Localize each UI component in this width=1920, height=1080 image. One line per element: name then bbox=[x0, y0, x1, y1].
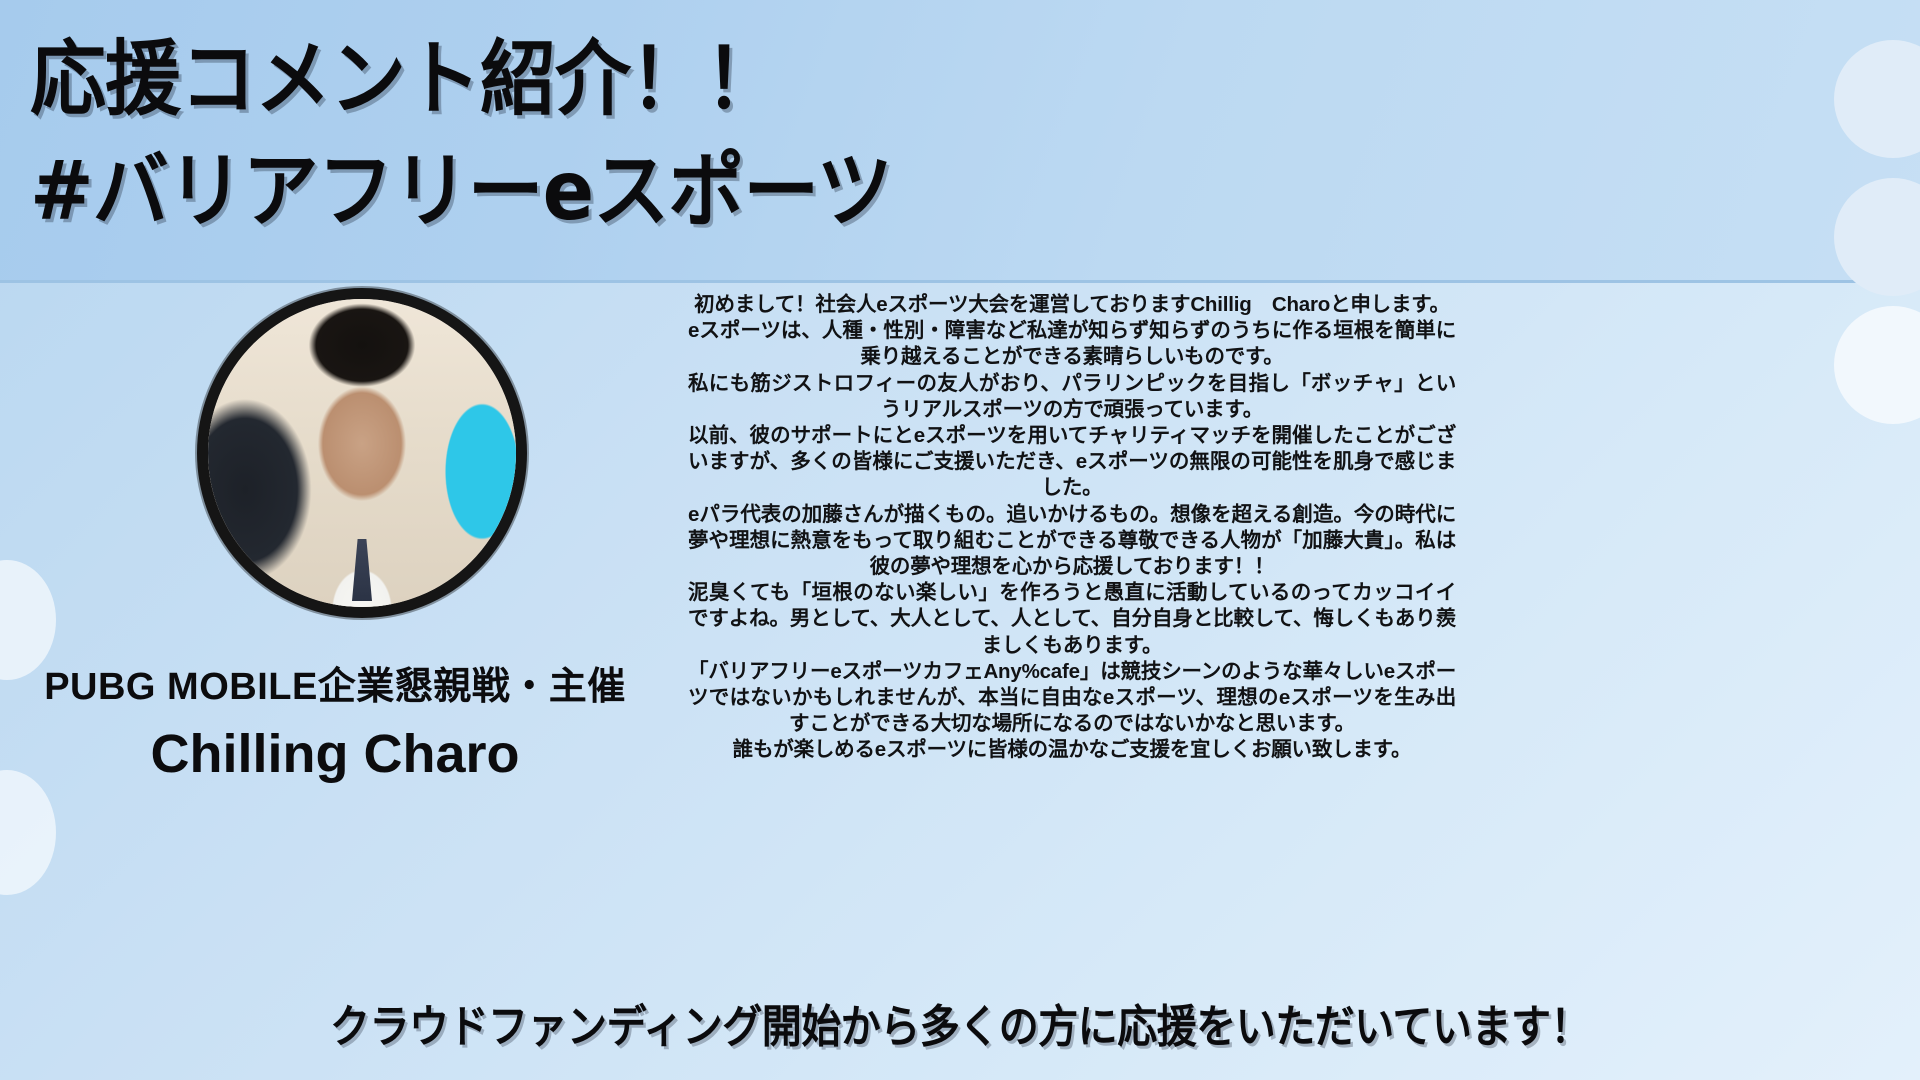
caption-text: クラウドファンディング開始から多くの方に応援をいただいています！ bbox=[330, 991, 1590, 1056]
title-line-primary: 応援コメント紹介！！ bbox=[30, 12, 780, 131]
testimonial-paragraph: 私にも筋ジストロフィーの友人がおり、パラリンピックを目指し「ボッチャ」というリア… bbox=[688, 371, 1456, 423]
avatar bbox=[197, 288, 527, 618]
header-band: 応援コメント紹介！！ #バリアフリーeスポーツ bbox=[0, 0, 1920, 283]
caption-bar: クラウドファンディング開始から多くの方に応援をいただいています！ bbox=[0, 994, 1920, 1052]
testimonial-paragraph: 泥臭くても「垣根のない楽しい」を作ろうと愚直に活動しているのってカッコイイですよ… bbox=[688, 580, 1456, 659]
testimonial-paragraph: 「バリアフリーeスポーツカフェAny%cafe」は競技シーンのような華々しいeス… bbox=[688, 659, 1456, 738]
profile-name-label: Chilling Charo bbox=[0, 723, 670, 785]
profile-role-label: PUBG MOBILE企業懇親戦・主催 bbox=[0, 655, 670, 710]
slide-canvas: 応援コメント紹介！！ #バリアフリーeスポーツ PUBG MOBILE企業懇親戦… bbox=[0, 0, 1920, 1080]
testimonial-paragraph: 以前、彼のサポートにとeスポーツを用いてチャリティマッチを開催したことがございま… bbox=[688, 423, 1456, 502]
profile-column: PUBG MOBILE企業懇親戦・主催 Chilling Charo bbox=[0, 283, 670, 983]
testimonial-body: 初めまして！社会人eスポーツ大会を運営しておりますChillig Charoと申… bbox=[688, 292, 1456, 764]
testimonial-paragraph: eスポーツは、人種・性別・障害など私達が知らず知らずのうちに作る垣根を簡単に乗り… bbox=[688, 318, 1456, 370]
testimonial-paragraph: eパラ代表の加藤さんが描くもの。追いかけるもの。想像を超える創造。今の時代に夢や… bbox=[688, 502, 1456, 581]
decorative-circle-right-lower bbox=[1834, 306, 1920, 424]
testimonial-paragraph: 誰もが楽しめるeスポーツに皆様の温かなご支援を宜しくお願い致します。 bbox=[688, 737, 1456, 763]
testimonial-paragraph: 初めまして！社会人eスポーツ大会を運営しておりますChillig Charoと申… bbox=[688, 292, 1456, 318]
title-line-hashtag: #バリアフリーeスポーツ bbox=[30, 124, 892, 243]
